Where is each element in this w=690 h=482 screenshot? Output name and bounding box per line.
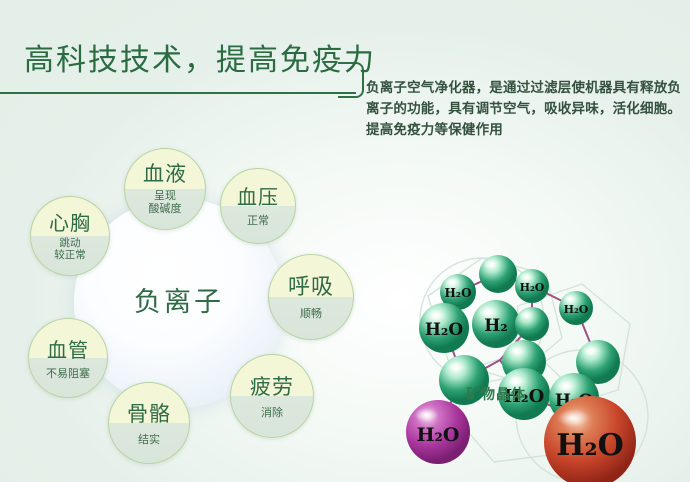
bubble-blood[interactable]: 血液 呈现 酸碱度 [124,148,206,230]
core-label: 负离子 [74,280,284,319]
atom-h2o: H₂O [515,269,549,303]
svg-text:H₂O: H₂O [444,286,471,300]
bubble-title: 呼吸 [288,277,334,299]
bubble-title: 疲劳 [250,377,294,398]
bubble-subtitle: 结实 [138,434,160,447]
title-frame-underline [0,92,356,94]
svg-text:H₂O: H₂O [564,303,589,316]
bubble-subtitle: 正常 [247,215,269,228]
molecule-diagram: H₂O H₂O H₂O [386,210,686,482]
atom-plain [479,255,517,293]
bubble-subtitle: 不易阻塞 [46,368,90,381]
svg-text:H₂O: H₂O [425,320,464,340]
svg-text:H₂O: H₂O [556,428,624,463]
atom-h2o-mineral: H₂O [406,400,470,464]
bubble-title: 血管 [47,340,89,360]
page-title: 高科技技术，提高免疫力 [24,44,376,78]
svg-text:H₂: H₂ [484,316,508,336]
poster-canvas: 高科技技术，提高免疫力 负离子空气净化器，是通过过滤层使机器具有释放负离子的功能… [0,0,690,482]
bubble-heart-chest[interactable]: 心胸 跳动 较正常 [30,196,110,276]
bubble-vessels[interactable]: 血管 不易阻塞 [28,318,108,398]
intro-paragraph: 负离子空气净化器，是通过过滤层使机器具有释放负离子的功能，具有调节空气，吸收异味… [366,78,684,141]
atom-h2o: H₂O [419,303,469,353]
svg-text:H₂O: H₂O [520,281,545,294]
mineral-crystal-caption: 矿物晶体 [466,384,526,404]
bubble-bones[interactable]: 骨骼 结实 [108,382,190,464]
molecule-atoms: H₂O H₂O H₂O [406,255,636,482]
svg-text:H₂O: H₂O [417,424,460,446]
benefit-cluster: 负离子 血液 呈现 酸碱度 心胸 跳动 较正常 血管 不易阻塞 骨骼 结实 血压… [14,140,358,470]
bubble-fatigue[interactable]: 疲劳 消除 [230,354,314,438]
bubble-title: 骨骼 [127,404,171,425]
atom-h2o: H₂O [559,291,593,325]
bubble-title: 血压 [237,187,279,207]
bubble-title: 血液 [143,164,187,185]
bubble-subtitle: 顺畅 [300,308,322,321]
bubble-subtitle: 消除 [261,407,283,420]
bubble-title: 心胸 [49,213,91,233]
bubble-subtitle: 呈现 酸碱度 [149,190,182,215]
atom-h2: H₂ [472,300,520,348]
bubble-breathing[interactable]: 呼吸 顺畅 [268,254,354,340]
bubble-blood-pressure[interactable]: 血压 正常 [220,168,296,244]
bubble-subtitle: 跳动 较正常 [54,237,86,261]
atom-plain [515,307,549,341]
